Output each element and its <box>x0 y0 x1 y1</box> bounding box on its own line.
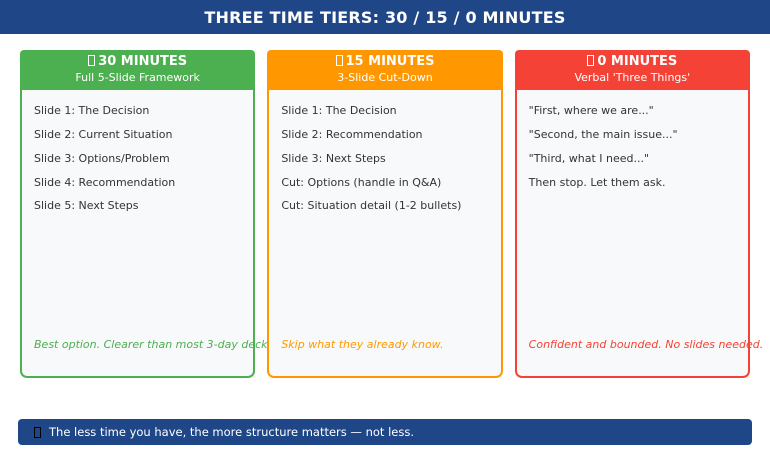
tier-card-header: 15 MINUTES 3-Slide Cut-Down <box>267 50 502 90</box>
tier-card-title: 0 MINUTES <box>597 54 677 69</box>
tier-card-body: Slide 1: The Decision Slide 2: Current S… <box>22 90 253 338</box>
tier-card-footer: Confident and bounded. No slides needed. <box>517 338 748 376</box>
tier-card-title-row: 0 MINUTES <box>587 55 677 70</box>
page-title-bar: THREE TIME TIERS: 30 / 15 / 0 MINUTES <box>0 0 770 34</box>
list-item: "Third, what I need..." <box>529 152 736 167</box>
list-item: Slide 3: Options/Problem <box>34 152 241 167</box>
list-item: Then stop. Let them ask. <box>529 176 736 191</box>
list-item: Slide 1: The Decision <box>281 104 488 119</box>
tier-card-body: Slide 1: The Decision Slide 2: Recommend… <box>269 90 500 338</box>
missing-glyph-box-icon <box>336 55 343 66</box>
tier-card-subtitle: 3-Slide Cut-Down <box>337 71 432 85</box>
list-item: Slide 3: Next Steps <box>281 152 488 167</box>
tier-card-30-minutes[interactable]: 30 MINUTES Full 5-Slide Framework Slide … <box>20 50 255 378</box>
missing-glyph-box-icon <box>88 55 95 66</box>
tier-card-body: "First, where we are..." "Second, the ma… <box>517 90 748 338</box>
list-item: Slide 1: The Decision <box>34 104 241 119</box>
list-item: Cut: Situation detail (1-2 bullets) <box>281 199 488 214</box>
tier-card-subtitle: Full 5-Slide Framework <box>75 71 200 85</box>
tier-cards-row: 30 MINUTES Full 5-Slide Framework Slide … <box>20 50 750 378</box>
missing-glyph-box-icon <box>34 427 41 438</box>
tier-card-title: 30 MINUTES <box>98 54 187 69</box>
tier-card-0-minutes[interactable]: 0 MINUTES Verbal 'Three Things' "First, … <box>515 50 750 378</box>
tier-card-note: Confident and bounded. No slides needed. <box>529 338 764 352</box>
list-item: Slide 2: Recommendation <box>281 128 488 143</box>
missing-glyph-box-icon <box>587 55 594 66</box>
list-item: Slide 2: Current Situation <box>34 128 241 143</box>
list-item: "Second, the main issue..." <box>529 128 736 143</box>
tier-card-subtitle: Verbal 'Three Things' <box>574 71 690 85</box>
tier-card-footer: Skip what they already know. <box>269 338 500 376</box>
tier-card-header: 0 MINUTES Verbal 'Three Things' <box>515 50 750 90</box>
footer-banner-text: The less time you have, the more structu… <box>49 425 414 439</box>
tier-card-15-minutes[interactable]: 15 MINUTES 3-Slide Cut-Down Slide 1: The… <box>267 50 502 378</box>
list-item: "First, where we are..." <box>529 104 736 119</box>
list-item: Cut: Options (handle in Q&A) <box>281 176 488 191</box>
tier-card-title-row: 30 MINUTES <box>88 55 187 70</box>
page-title: THREE TIME TIERS: 30 / 15 / 0 MINUTES <box>204 8 565 27</box>
tier-card-title-row: 15 MINUTES <box>336 55 435 70</box>
tier-card-title: 15 MINUTES <box>346 54 435 69</box>
tier-card-header: 30 MINUTES Full 5-Slide Framework <box>20 50 255 90</box>
footer-banner: The less time you have, the more structu… <box>18 419 752 445</box>
tier-card-footer: Best option. Clearer than most 3-day dec… <box>22 338 253 376</box>
tier-card-note: Best option. Clearer than most 3-day dec… <box>34 338 277 352</box>
list-item: Slide 4: Recommendation <box>34 176 241 191</box>
list-item: Slide 5: Next Steps <box>34 199 241 214</box>
tier-card-note: Skip what they already know. <box>281 338 443 352</box>
